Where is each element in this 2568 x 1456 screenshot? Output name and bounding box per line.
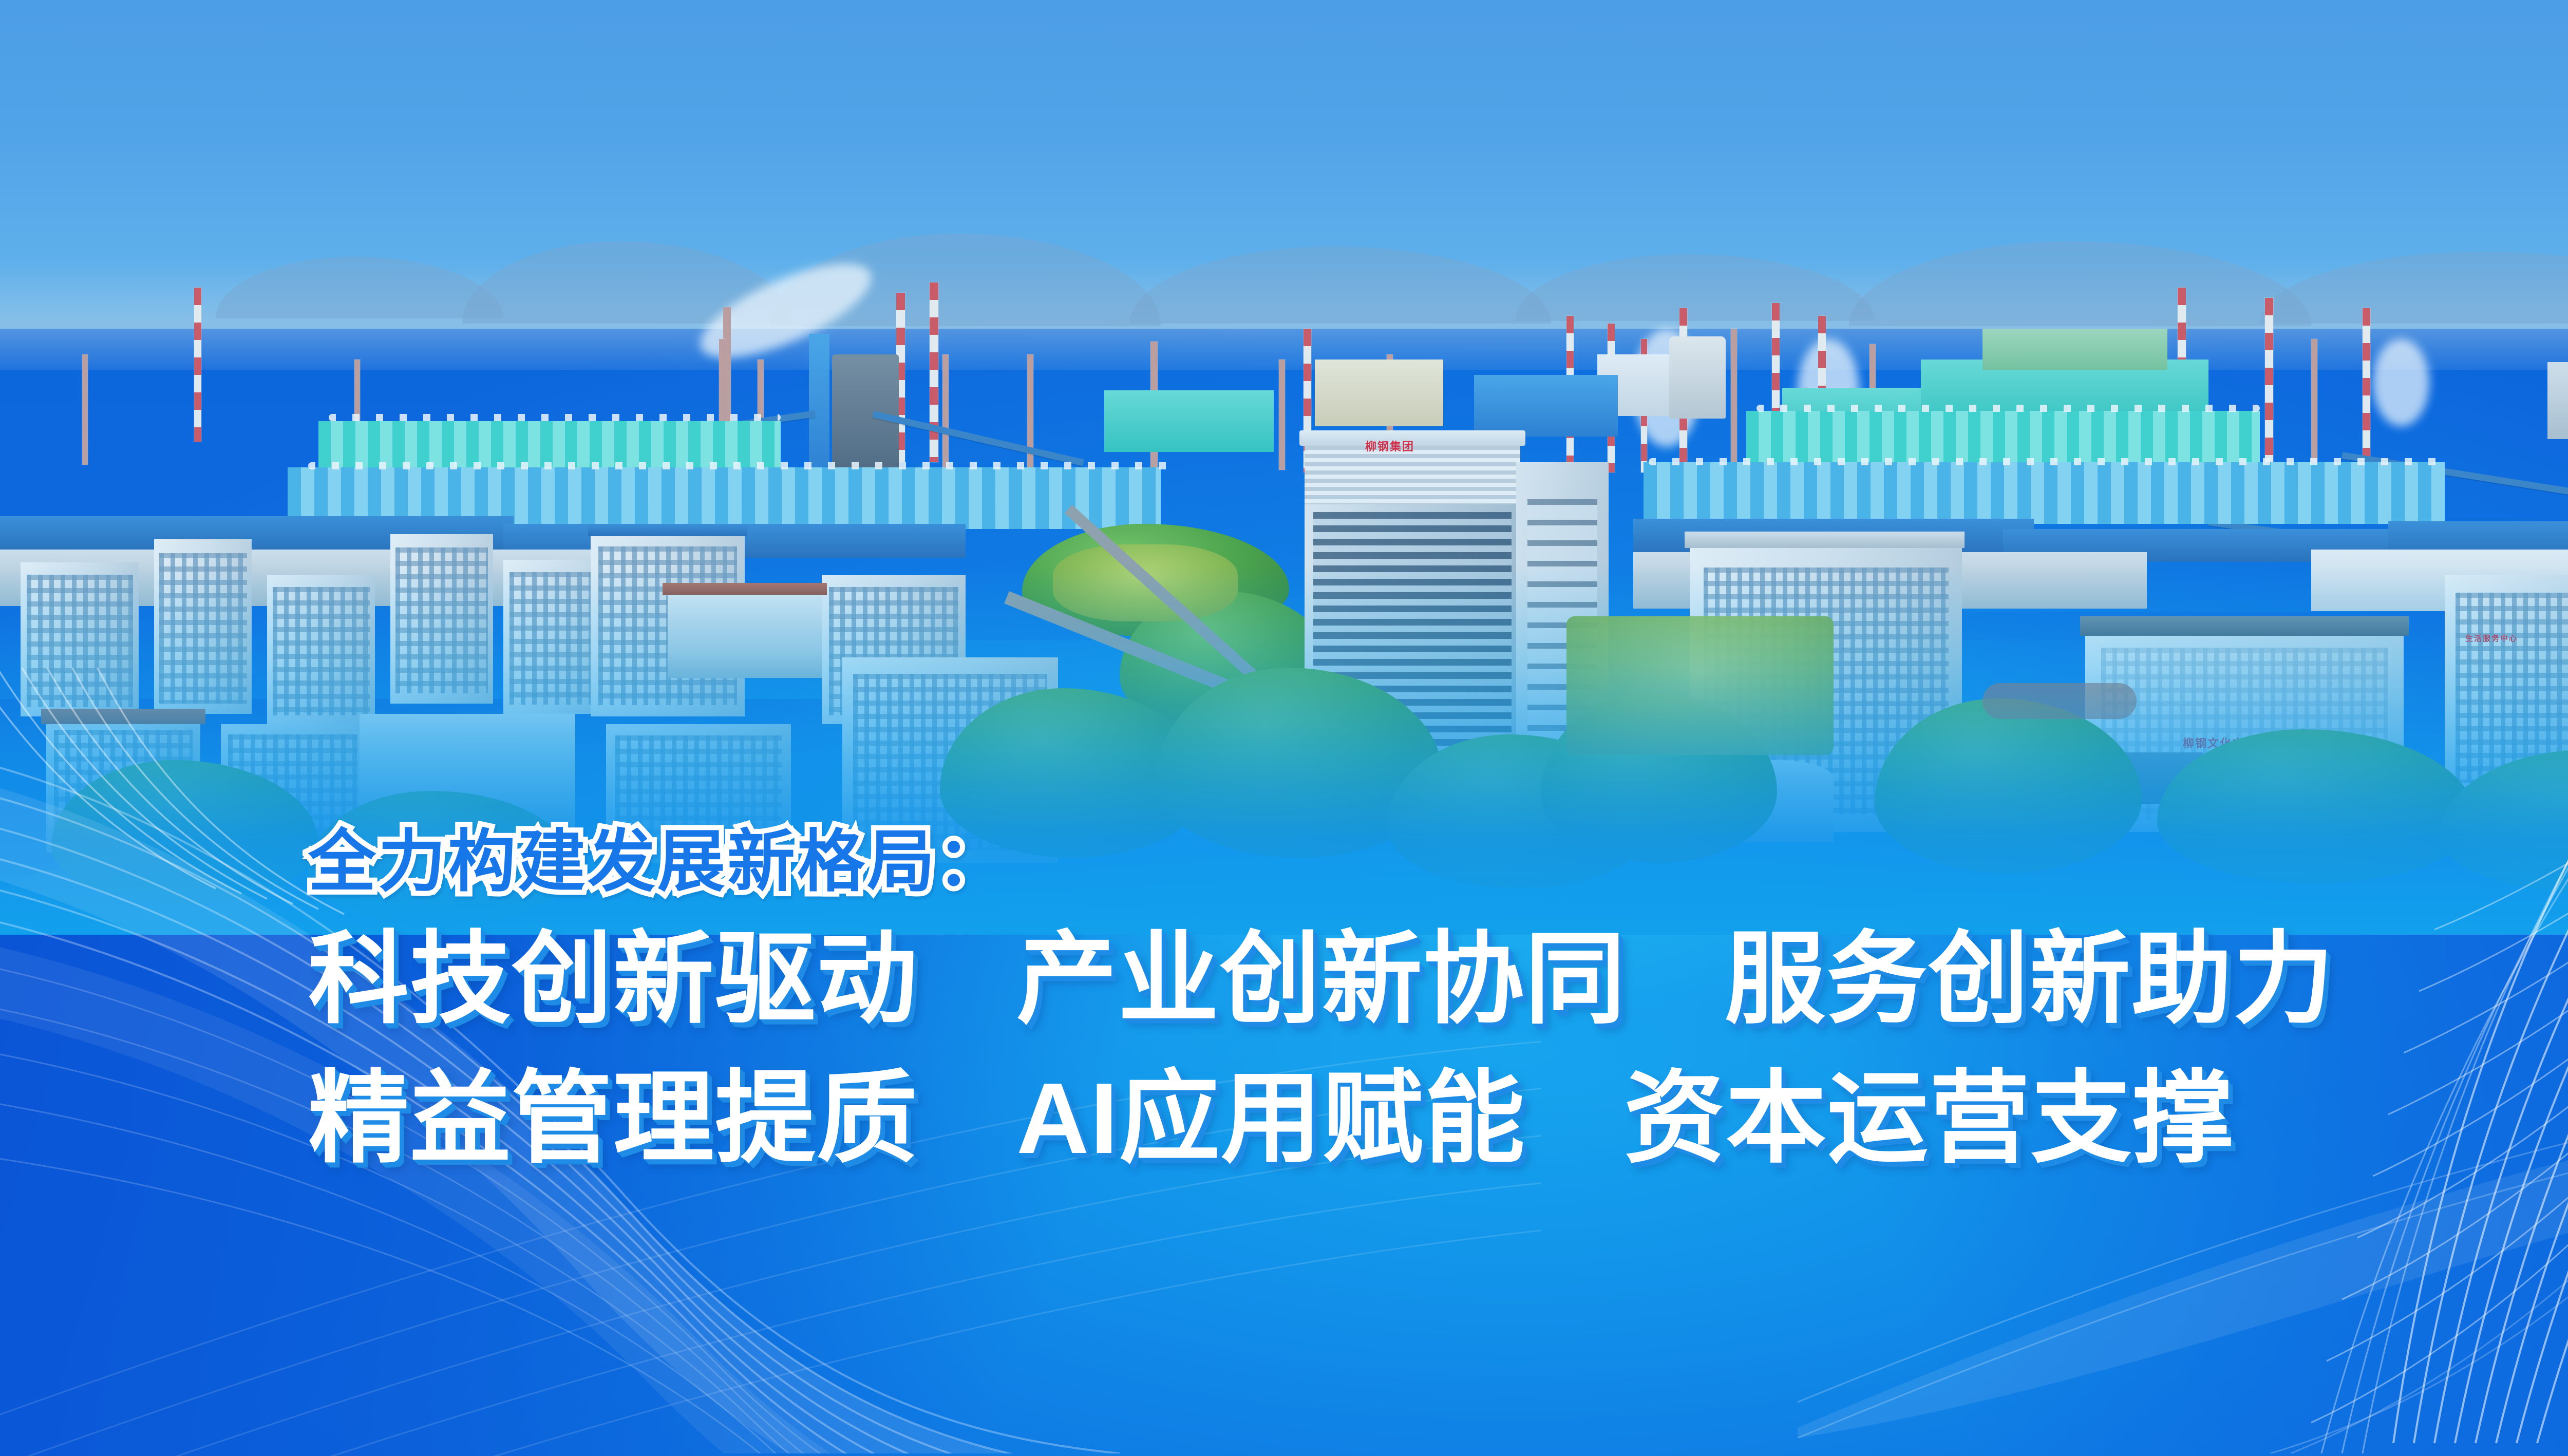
headline-line-3: 精益管理提质 AI应用赋能 资本运营支撑 <box>308 1053 2568 1184</box>
promo-banner: 柳钢集团 技术中心 柳钢文化中心 生活服务中心 <box>0 0 2568 1456</box>
headline-line-2-segment-2: 产业创新协同 <box>1016 923 1627 1035</box>
headline-line-3-segment-3: 资本运营支撑 <box>1624 1062 2234 1175</box>
headline-line-2-segment-3: 服务创新助力 <box>1725 923 2335 1035</box>
headline-line-2-segment-1: 科技创新驱动 <box>308 923 918 1035</box>
headline-line-2: 科技创新驱动 产业创新协同 服务创新助力 <box>308 914 2568 1045</box>
aerial-industrial-photo: 柳钢集团 技术中心 柳钢文化中心 生活服务中心 <box>0 0 2568 935</box>
headline-line-1: 全力构建发展新格局： <box>308 822 2568 902</box>
headline-line-3-segment-2: AI应用赋能 <box>1016 1062 1526 1175</box>
headline-text-block: 全力构建发展新格局： 科技创新驱动 产业创新协同 服务创新助力 精益管理提质 A… <box>308 822 2568 1184</box>
headline-line-3-segment-1: 精益管理提质 <box>308 1062 918 1175</box>
